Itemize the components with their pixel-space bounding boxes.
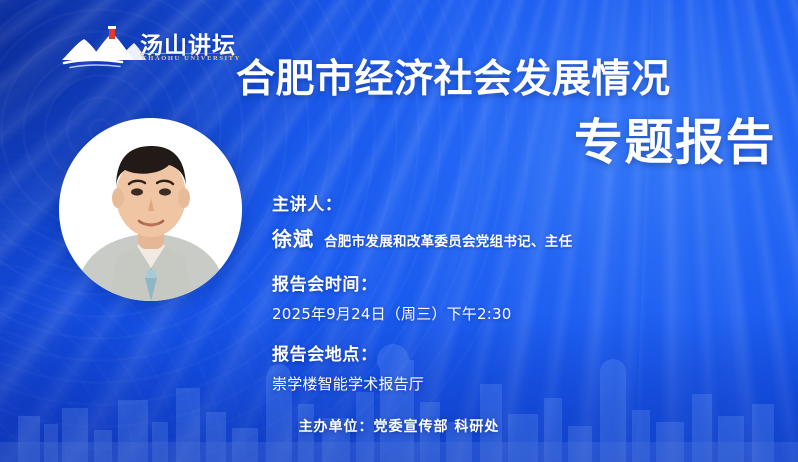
place-group: 报告会地点： 崇学楼智能学术报告厅 xyxy=(272,340,692,394)
mountain-lake-logo-icon xyxy=(60,26,146,72)
speaker-title: 合肥市发展和改革委员会党组书记、主任 xyxy=(324,230,572,250)
place-value: 崇学楼智能学术报告厅 xyxy=(272,373,692,394)
time-value: 2025年9月24日（周三）下午2:30 xyxy=(272,303,692,324)
poster-headline: 合肥市经济社会发展情况 专题报告 xyxy=(236,60,776,168)
headline-line-2: 专题报告 xyxy=(236,118,776,168)
headline-line-1: 合肥市经济社会发展情况 xyxy=(236,60,776,100)
place-label: 报告会地点： xyxy=(272,340,692,365)
speaker-row: 徐斌 合肥市发展和改革委员会党组书记、主任 xyxy=(272,223,692,252)
logo-divider xyxy=(140,53,236,54)
time-label: 报告会时间： xyxy=(272,270,692,295)
lecture-poster: 汤山讲坛 CHAOHU UNIVERSITY 合肥市经济社会发展情况 专题报告 xyxy=(0,0,798,462)
brand-logo: 汤山讲坛 CHAOHU UNIVERSITY xyxy=(60,22,236,76)
speaker-name: 徐斌 xyxy=(272,223,314,252)
speaker-portrait xyxy=(59,118,242,301)
speaker-label: 主讲人： xyxy=(272,190,692,215)
lecture-details: 主讲人： 徐斌 合肥市发展和改革委员会党组书记、主任 报告会时间： 2025年9… xyxy=(272,190,692,394)
time-group: 报告会时间： 2025年9月24日（周三）下午2:30 xyxy=(272,270,692,324)
logo-english-name: CHAOHU UNIVERSITY xyxy=(142,55,241,62)
organizers-footer: 主办单位：党委宣传部 科研处 xyxy=(0,416,798,436)
